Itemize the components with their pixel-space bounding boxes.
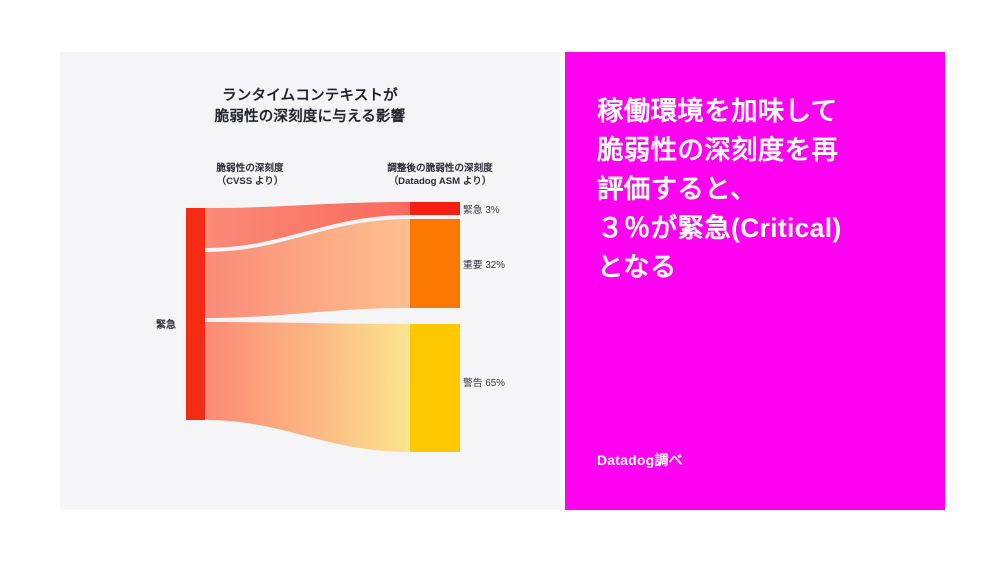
sankey-link-medium: [205, 322, 410, 452]
slide-root: ランタイムコンテキストが 脆弱性の深刻度に与える影響 脆弱性の深刻度 （CVSS…: [0, 0, 1000, 562]
headline-text: 稼働環境を加味して 脆弱性の深刻度を再 評価すると、 ３％が緊急(Critica…: [597, 92, 927, 287]
sankey-node-target-medium: [410, 324, 460, 452]
attribution-text: Datadog調べ: [597, 450, 683, 470]
sankey-node-target-high: [410, 219, 460, 308]
sankey-label-target-high: 重要 32%: [463, 257, 505, 271]
sankey-diagram: [60, 52, 560, 510]
sankey-label-source-critical: 緊急: [156, 316, 176, 331]
sankey-label-target-medium: 警告 65%: [463, 375, 505, 389]
sankey-node-source-critical: [186, 208, 205, 420]
sankey-label-target-critical: 緊急 3%: [463, 202, 499, 216]
message-panel: 稼働環境を加味して 脆弱性の深刻度を再 評価すると、 ３％が緊急(Critica…: [565, 52, 945, 510]
sankey-node-target-critical: [410, 202, 460, 215]
chart-panel: ランタイムコンテキストが 脆弱性の深刻度に与える影響 脆弱性の深刻度 （CVSS…: [60, 52, 560, 510]
